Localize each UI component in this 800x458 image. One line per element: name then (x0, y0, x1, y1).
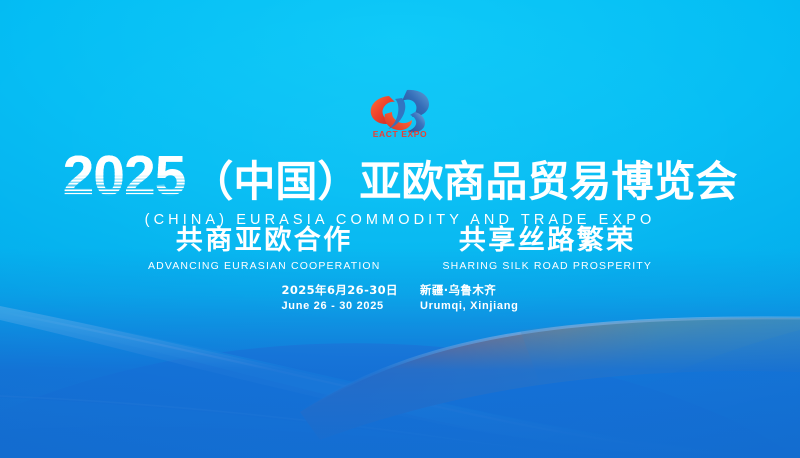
slogan-2-english: SHARING SILK ROAD PROSPERITY (442, 260, 652, 272)
event-meta-row: 2025年6月26-30日 June 26 - 30 2025 新疆·乌鲁木齐 … (0, 283, 800, 313)
title-english: (CHINA) EURASIA COMMODITY AND TRADE EXPO (0, 212, 800, 228)
slogan-1: 共商亚欧合作 ADVANCING EURASIAN COOPERATION (148, 227, 380, 272)
slogan-1-chinese: 共商亚欧合作 (148, 227, 380, 255)
event-date-english: June 26 - 30 2025 (281, 299, 398, 314)
event-location: 新疆·乌鲁木齐 Urumqi, Xinjiang (420, 283, 519, 313)
event-location-chinese: 新疆·乌鲁木齐 (420, 283, 519, 299)
eact-expo-logo: EACT EXPO (345, 84, 455, 140)
slogans-row: 共商亚欧合作 ADVANCING EURASIAN COOPERATION 共享… (0, 227, 800, 272)
logo-wordmark: EACT EXPO (373, 129, 428, 139)
event-date-chinese: 2025年6月26-30日 (281, 283, 398, 299)
event-location-english: Urumqi, Xinjiang (420, 299, 519, 314)
title-block: 2025 （中国）亚欧商品贸易博览会 (CHINA) EURASIA COMMO… (0, 148, 800, 228)
logo-container: EACT EXPO (0, 84, 800, 140)
slogan-1-english: ADVANCING EURASIAN COOPERATION (148, 260, 380, 272)
expo-poster: EACT EXPO 2025 （中国）亚欧商品贸易博览会 (CHINA) EUR… (0, 0, 800, 458)
title-chinese: （中国）亚欧商品贸易博览会 (191, 161, 737, 203)
title-main-row: 2025 （中国）亚欧商品贸易博览会 (0, 148, 800, 205)
event-date: 2025年6月26-30日 June 26 - 30 2025 (281, 283, 398, 313)
slogan-2-chinese: 共享丝路繁荣 (442, 227, 652, 255)
background-bottom-gradient (0, 248, 800, 458)
logo-icon: EACT EXPO (345, 84, 455, 140)
slogan-2: 共享丝路繁荣 SHARING SILK ROAD PROSPERITY (442, 227, 652, 272)
title-year: 2025 (63, 148, 190, 205)
